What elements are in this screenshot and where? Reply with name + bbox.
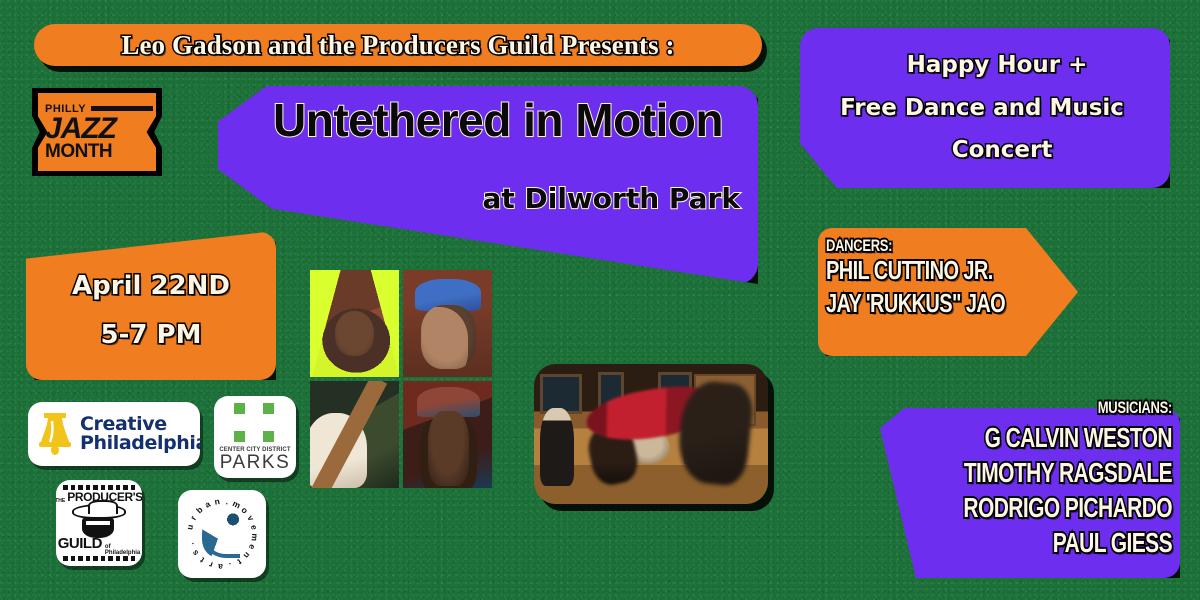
ring-text-char: o <box>239 505 250 516</box>
happy-hour-line-2: Free Dance and Music <box>806 87 1158 130</box>
logo-creative-philadelphia[interactable]: Creative Philadelphia <box>28 402 200 466</box>
four-squares-icon <box>234 403 276 443</box>
silhouette-head-shape <box>82 517 114 538</box>
presents-text: Leo Gadson and the Producers Guild Prese… <box>121 30 674 61</box>
ring-text-char: n <box>214 496 221 507</box>
ring-text-char: b <box>194 505 205 516</box>
event-poster: Leo Gadson and the Producers Guild Prese… <box>0 0 1200 600</box>
photo-bass-player <box>310 381 399 488</box>
ring-text-char: a <box>218 562 223 572</box>
photo-hooded-man <box>310 270 399 377</box>
photo-breakdancer <box>534 364 768 504</box>
ring-text-char: a <box>203 499 212 510</box>
ring-text-char: t <box>236 557 244 567</box>
happy-hour-line-1: Happy Hour + <box>806 44 1158 87</box>
event-date: April 22ND <box>26 262 276 311</box>
dancer-name: JAY 'RUKKUS" JAO <box>826 290 1066 320</box>
ring-text-char: v <box>245 513 256 522</box>
jazz-badge-month: MONTH <box>45 142 149 161</box>
ring-text-char: r <box>188 514 198 522</box>
logo-producers-guild[interactable]: THE PRODUCER'S GUILD of Philadelphia <box>56 480 142 566</box>
filmstrip-bottom-icon <box>63 556 135 561</box>
ring-text-char: r <box>208 560 215 571</box>
musician-photo-grid <box>310 270 492 488</box>
musician-name: RODRIGO PICHARDO <box>890 493 1172 525</box>
presents-banner: Leo Gadson and the Producers Guild Prese… <box>34 24 762 66</box>
photo-hat-player <box>403 381 492 488</box>
ring-text-char: m <box>249 533 260 542</box>
logo-ccd-parks[interactable]: CENTER CITY DISTRICT PARKS <box>214 396 296 478</box>
ring-text-char: e <box>247 543 258 551</box>
musicians-list: MUSICIANS: G CALVIN WESTON TIMOTHY RAGSD… <box>890 398 1172 563</box>
dancer-figure-icon <box>202 512 244 558</box>
musician-name: G CALVIN WESTON <box>890 423 1172 455</box>
fedora-man-icon <box>70 504 128 534</box>
dancers-list: DANCERS: PHIL CUTTINO JR. JAY 'RUKKUS" J… <box>826 236 1066 323</box>
ring-text-char: m <box>231 498 242 510</box>
ring-text-char: . <box>225 496 229 506</box>
creative-philadelphia-line-2: Philadelphia <box>80 434 200 453</box>
musician-name: PAUL GIESS <box>890 528 1172 560</box>
happy-hour-text: Happy Hour + Free Dance and Music Concer… <box>806 44 1158 172</box>
dancer-name: PHIL CUTTINO JR. <box>826 257 1066 287</box>
ccd-parks-wordmark: PARKS <box>220 453 291 472</box>
urban-movement-arts-ring: urban.movement.arts. <box>184 496 260 572</box>
ring-text-char: n <box>242 550 253 560</box>
philly-jazz-month-badge: PHILLY JAZZ MONTH <box>32 88 162 176</box>
logo-urban-movement-arts[interactable]: urban.movement.arts. <box>178 490 266 578</box>
ring-text-char: s <box>190 548 201 558</box>
producers-guild-the: THE <box>56 498 65 504</box>
producers-guild-of-philadelphia: of Philadelphia <box>105 544 140 556</box>
musicians-label: MUSICIANS: <box>890 398 1172 417</box>
ring-text-char: . <box>228 561 233 571</box>
photo-trumpet-player <box>403 270 492 377</box>
jazz-badge-jazz: JAZZ <box>45 115 149 143</box>
page-title: Untethered in Motion <box>258 96 738 144</box>
creative-philadelphia-wordmark: Creative Philadelphia <box>80 415 200 454</box>
title-subtitle: at Dilworth Park <box>300 182 740 215</box>
event-time: 5-7 PM <box>26 311 276 360</box>
ring-text-char: . <box>185 542 195 547</box>
date-time-text: April 22ND 5-7 PM <box>26 262 276 361</box>
ring-text-char: t <box>198 555 206 565</box>
ring-text-char: e <box>249 524 260 531</box>
liberty-bell-icon <box>36 409 74 460</box>
jazz-badge-philly: PHILLY <box>45 103 149 115</box>
musician-name: TIMOTHY RAGSDALE <box>890 458 1172 490</box>
ring-text-char: u <box>184 524 195 531</box>
dancers-label: DANCERS: <box>826 236 1066 255</box>
jazz-ticket-inner: PHILLY JAZZ MONTH <box>38 93 156 171</box>
happy-hour-line-3: Concert <box>806 129 1158 172</box>
background-guitarist <box>540 408 574 486</box>
